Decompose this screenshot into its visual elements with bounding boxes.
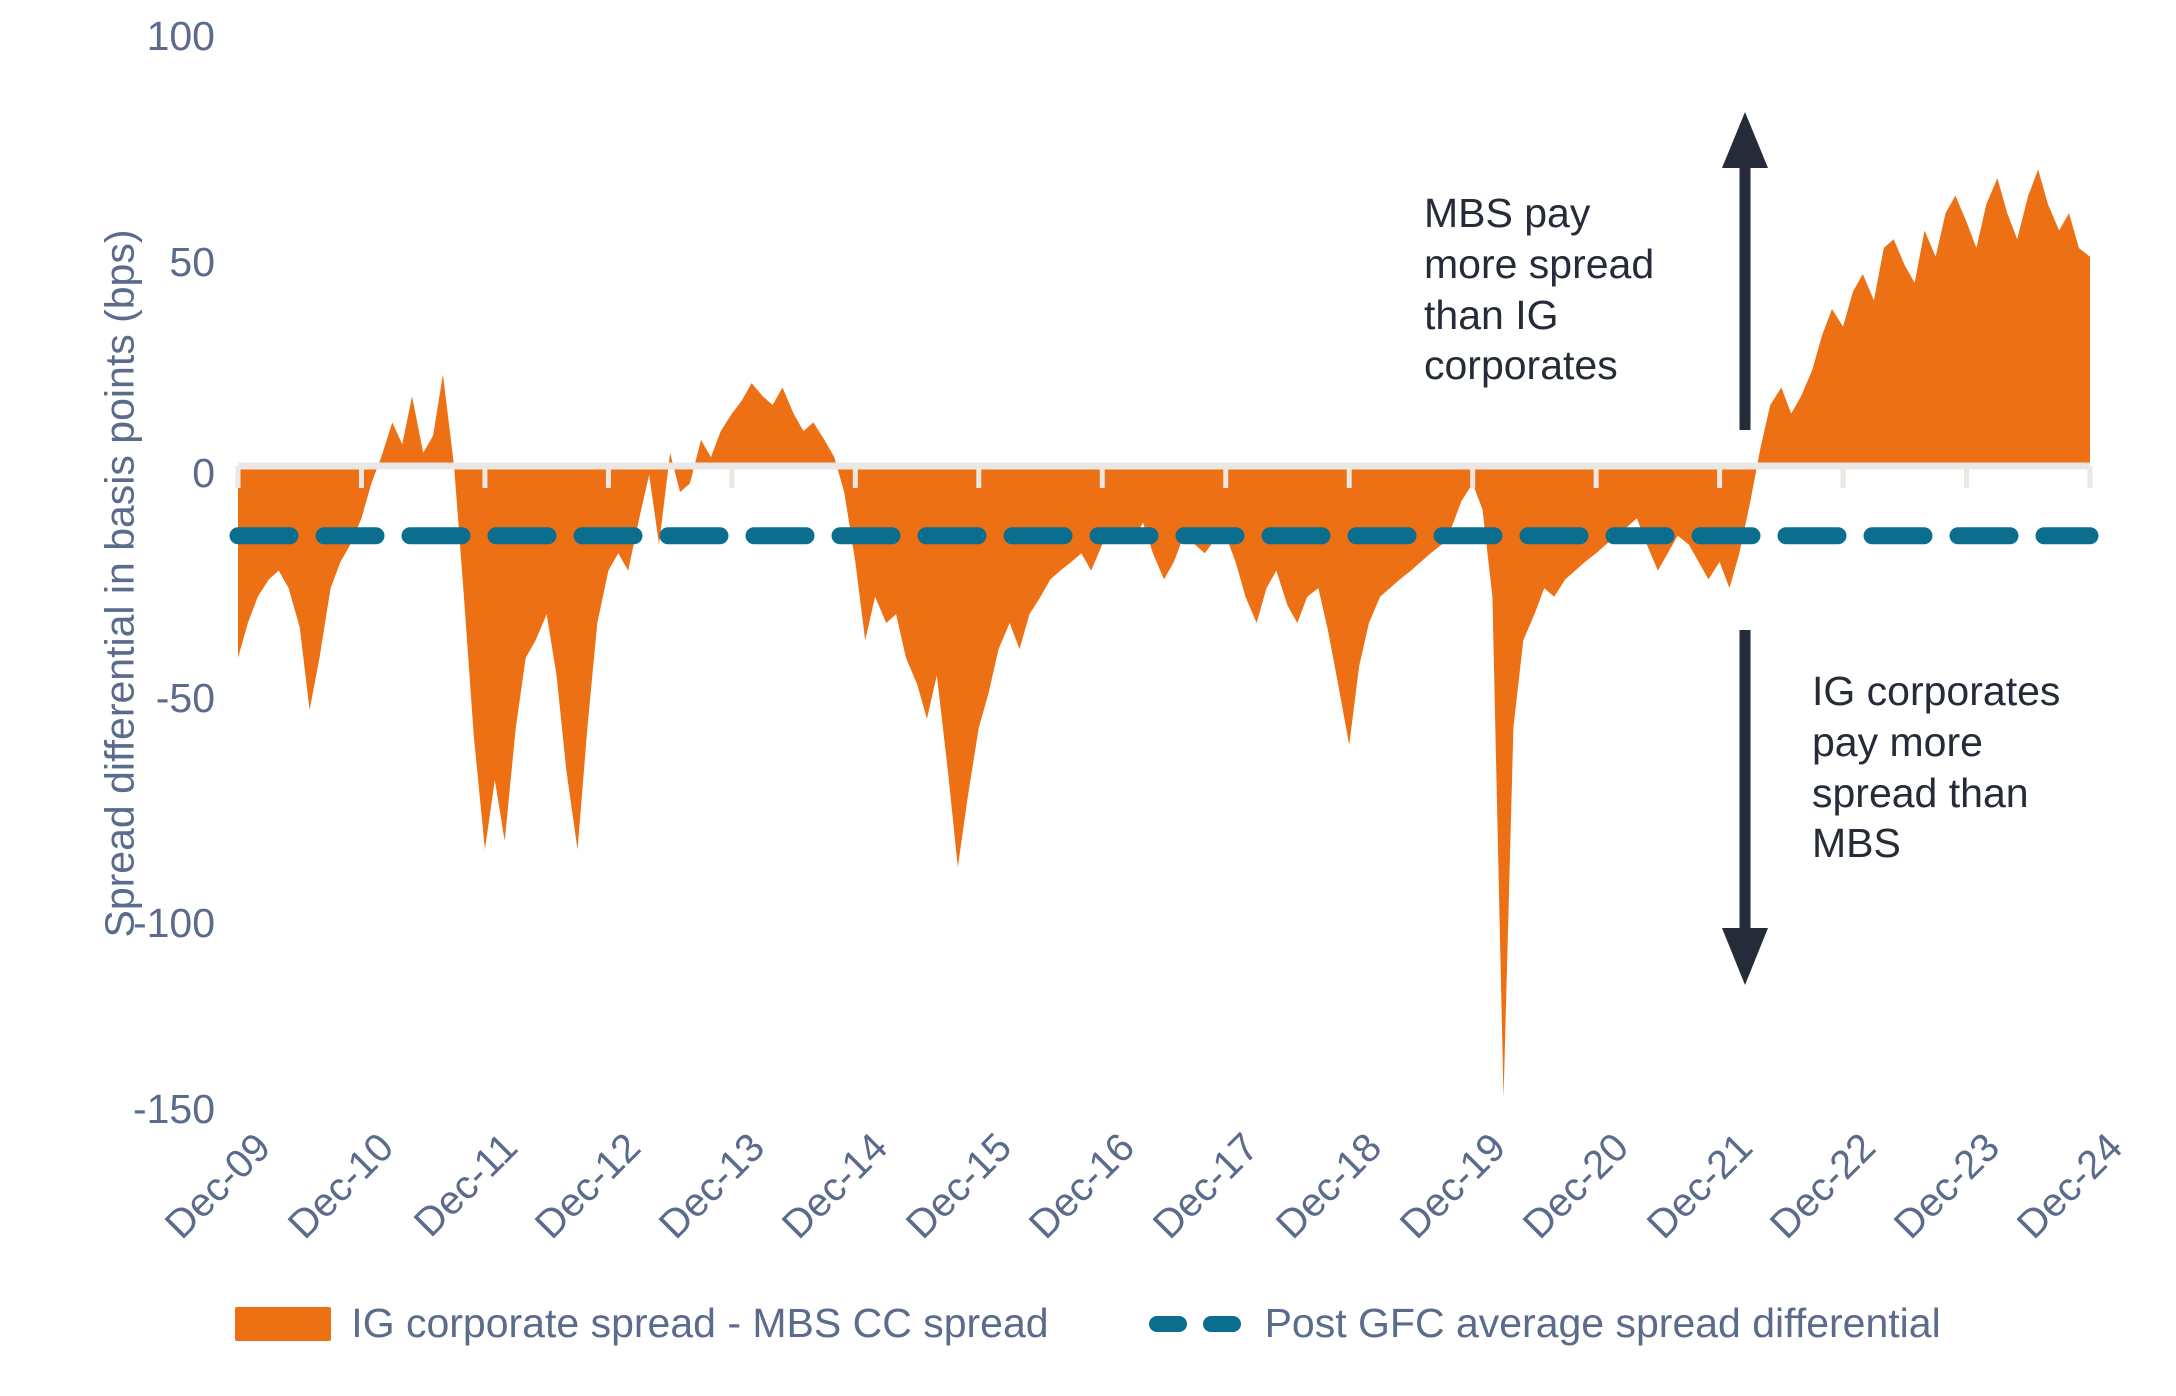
legend-swatch-area-icon — [235, 1307, 331, 1341]
legend-item-ig-corporate-spread[interactable]: IG corporate spread - MBS CC spread — [235, 1300, 1048, 1347]
x-tick-dec-10: Dec-10 — [258, 1125, 403, 1270]
x-tick-dec-09: Dec-09 — [135, 1125, 280, 1270]
chart-container: Spread differential in basis points (bps… — [0, 0, 2176, 1396]
x-tick-dec-23: Dec-23 — [1863, 1125, 2008, 1270]
y-tick-neg50: -50 — [15, 678, 215, 719]
y-tick-50: 50 — [15, 242, 215, 283]
x-tick-dec-22: Dec-22 — [1740, 1125, 1885, 1270]
series-canvas — [238, 30, 2090, 1120]
x-tick-dec-15: Dec-15 — [876, 1125, 1021, 1270]
area-series-ig-minus-mbs — [238, 170, 2090, 1099]
x-tick-dec-19: Dec-19 — [1370, 1125, 1515, 1270]
plot-area — [238, 30, 2090, 1120]
x-tick-dec-18: Dec-18 — [1246, 1125, 1391, 1270]
x-tick-dec-11: Dec-11 — [382, 1125, 527, 1270]
annotation-mbs-pay-more: MBS pay more spread than IG corporates — [1424, 188, 1724, 391]
y-tick-0: 0 — [15, 453, 215, 494]
x-tick-dec-14: Dec-14 — [752, 1125, 897, 1270]
x-tick-dec-16: Dec-16 — [999, 1125, 1144, 1270]
y-axis-tick-labels: 100 50 0 -50 -100 -150 — [0, 0, 215, 1130]
legend-label-ig-corporate-spread: IG corporate spread - MBS CC spread — [351, 1300, 1048, 1347]
legend-label-post-gfc-average: Post GFC average spread differential — [1265, 1300, 1941, 1347]
y-tick-neg100: -100 — [15, 903, 215, 944]
legend-swatch-dashed-line-icon — [1149, 1316, 1245, 1332]
x-tick-dec-17: Dec-17 — [1123, 1125, 1268, 1270]
x-tick-dec-24: Dec-24 — [1987, 1125, 2132, 1270]
legend-item-post-gfc-average[interactable]: Post GFC average spread differential — [1149, 1300, 1941, 1347]
x-axis-tick-labels: Dec-09Dec-10Dec-11Dec-12Dec-13Dec-14Dec-… — [238, 1125, 2090, 1325]
x-tick-dec-12: Dec-12 — [505, 1125, 650, 1270]
y-tick-100: 100 — [15, 16, 215, 57]
annotation-ig-pay-more: IG corporates pay more spread than MBS — [1812, 666, 2132, 869]
y-tick-neg150: -150 — [15, 1089, 215, 1130]
chart-legend: IG corporate spread - MBS CC spread Post… — [0, 1300, 2176, 1347]
x-tick-dec-13: Dec-13 — [629, 1125, 774, 1270]
x-tick-dec-21: Dec-21 — [1616, 1125, 1761, 1270]
x-tick-dec-20: Dec-20 — [1493, 1125, 1638, 1270]
